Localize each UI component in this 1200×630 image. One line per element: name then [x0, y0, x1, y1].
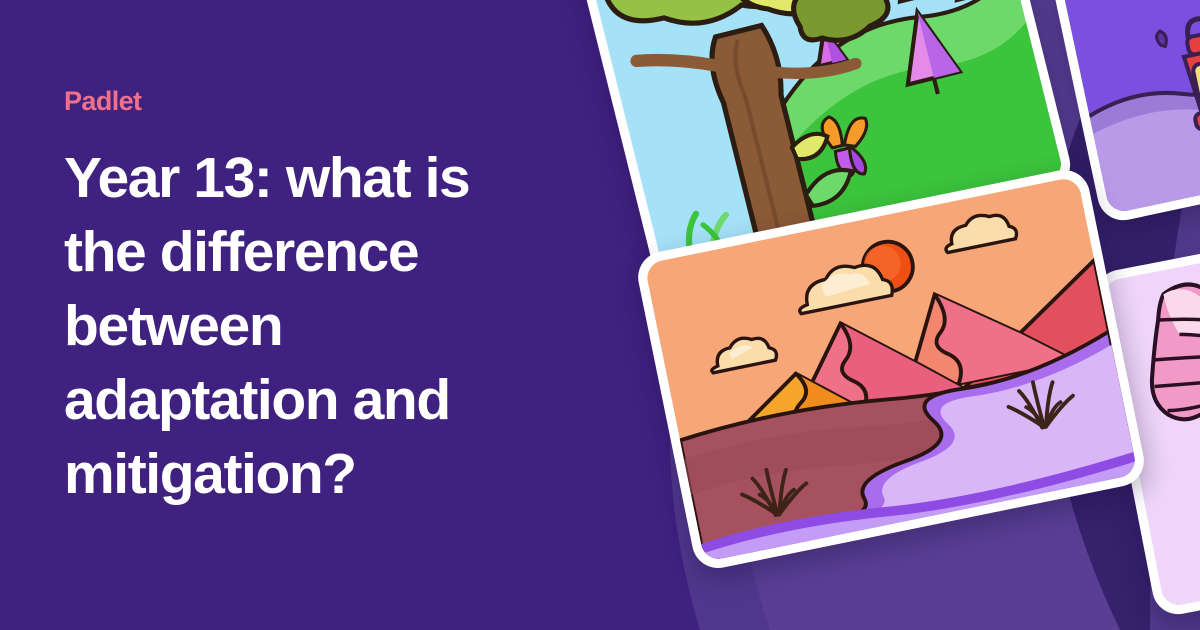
text-column: Padlet Year 13: what is the difference b… — [64, 88, 534, 511]
page-title: Year 13: what is the difference between … — [64, 141, 524, 511]
social-card-canvas: Padlet Year 13: what is the difference b… — [0, 0, 1200, 630]
padlet-logo-wordmark[interactable]: Padlet — [64, 88, 534, 115]
